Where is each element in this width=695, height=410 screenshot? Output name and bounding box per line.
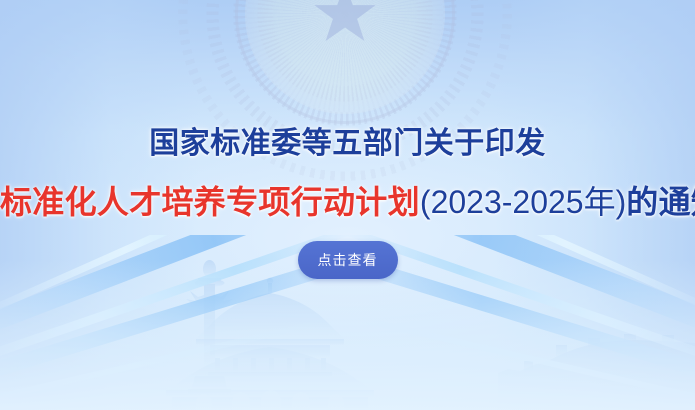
headline-suffix: 的通知 [626,184,695,220]
headline-year-range: (2023-2025年) [420,184,626,220]
view-detail-button[interactable]: 点击查看 [298,241,398,279]
policy-announcement-banner: 国家标准委等五部门关于印发 标准化人才培养专项行动计划(2023-2025年)的… [0,0,695,410]
background-bottom-wash [0,260,695,410]
headline-plan-title: 标准化人才培养专项行动计划 [0,184,420,220]
cta-container: 点击查看 [0,241,695,279]
five-pointed-star-icon [312,0,378,47]
headline-line-1: 国家标准委等五部门关于印发 [0,124,695,164]
headline-line-2: 标准化人才培养专项行动计划(2023-2025年)的通知 [0,181,695,223]
